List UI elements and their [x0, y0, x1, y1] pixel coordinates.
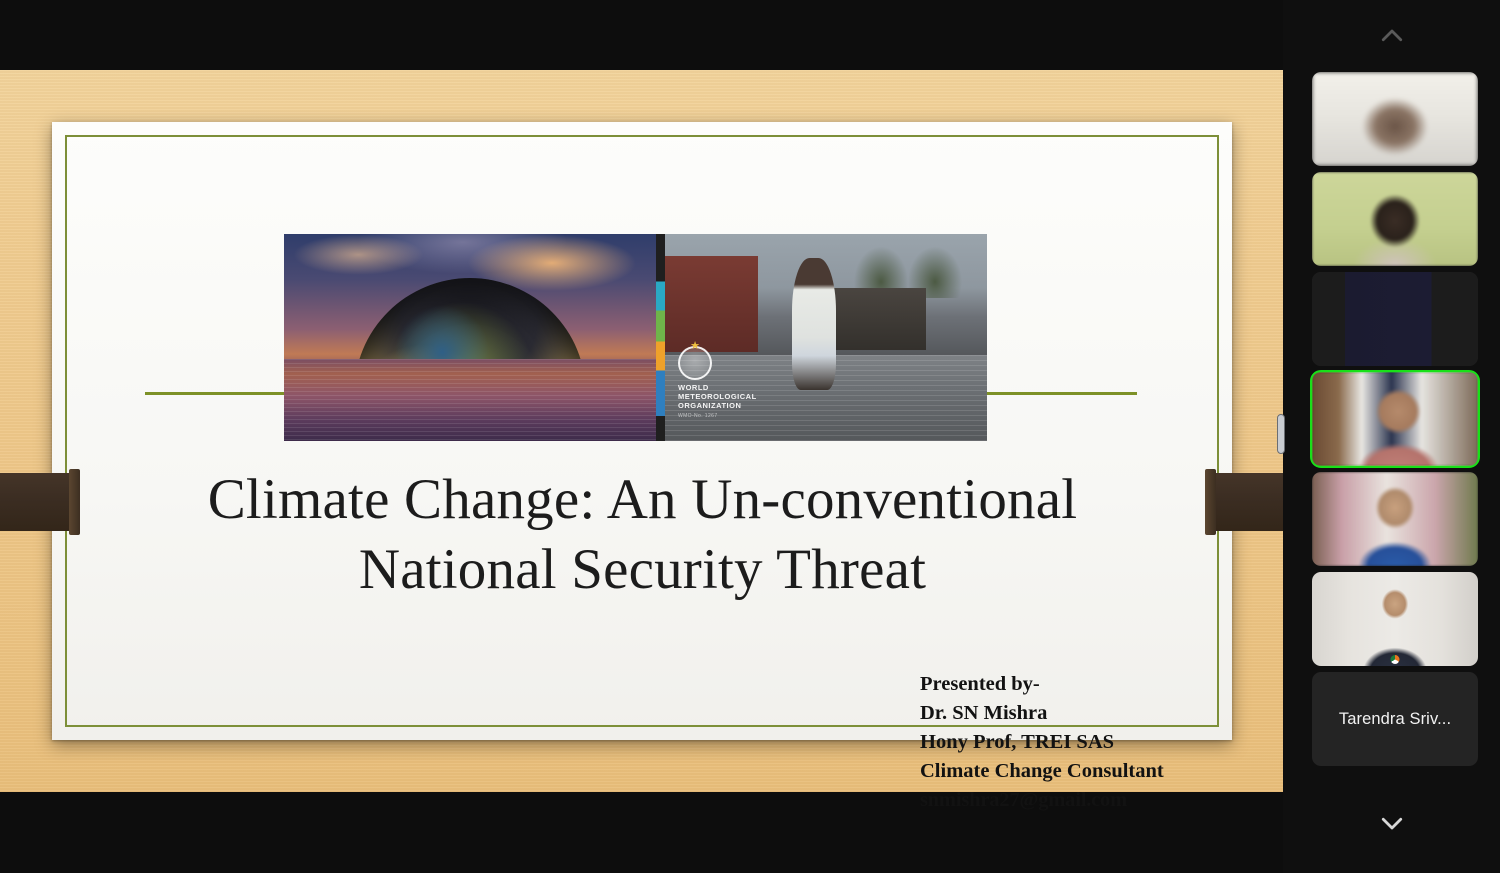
participant-tiles: Tarendra Sriv... [1283, 72, 1500, 784]
flood-wmo-image: WORLD METEOROLOGICAL ORGANIZATION WMO-No… [656, 234, 987, 441]
participant-tile[interactable] [1312, 272, 1478, 366]
participant-tile-camera-off[interactable]: Tarendra Sriv... [1312, 672, 1478, 766]
chevron-up-icon [1377, 21, 1407, 51]
slide-title-line-1: Climate Change: An Un-conventional [100, 465, 1185, 535]
globe-in-water-image [284, 234, 656, 441]
participant-tile[interactable] [1312, 72, 1478, 166]
presenter-role: Climate Change Consultant [920, 757, 1164, 786]
wmo-color-strip [656, 234, 665, 441]
wmo-caption: WMO-No. 1267 [678, 413, 808, 419]
wmo-emblem-icon [678, 346, 712, 380]
wmo-line2: METEOROLOGICAL [678, 392, 808, 401]
presenter-title: Hony Prof, TREI SAS [920, 728, 1164, 757]
slide-title: Climate Change: An Un-conventional Natio… [100, 465, 1185, 605]
participant-tile[interactable] [1312, 572, 1478, 666]
scroll-up-button[interactable] [1283, 5, 1500, 67]
presented-by-label: Presented by- [920, 670, 1164, 699]
presenter-email: snmishra27@gmail.com [920, 786, 1164, 815]
ribbon-cap-right [1205, 469, 1216, 535]
ribbon-cap-left [69, 469, 80, 535]
wmo-line1: WORLD [678, 383, 808, 392]
slide-image-row: WORLD METEOROLOGICAL ORGANIZATION WMO-No… [284, 234, 987, 441]
participant-tile[interactable] [1312, 172, 1478, 266]
chevron-down-icon [1377, 808, 1407, 838]
wmo-logo: WORLD METEOROLOGICAL ORGANIZATION WMO-No… [678, 346, 808, 419]
panel-resize-handle[interactable] [1277, 414, 1285, 454]
shared-screen-stage[interactable]: WORLD METEOROLOGICAL ORGANIZATION WMO-No… [0, 0, 1283, 873]
flood-red-building [662, 256, 758, 352]
decorative-ribbon-right [1205, 473, 1283, 531]
presenter-name: Dr. SN Mishra [920, 699, 1164, 728]
slide-title-line-2: National Security Threat [100, 535, 1185, 605]
presentation-slide[interactable]: WORLD METEOROLOGICAL ORGANIZATION WMO-No… [0, 70, 1283, 792]
decorative-ribbon-left [0, 473, 80, 531]
participant-tile[interactable] [1312, 472, 1478, 566]
presenter-block: Presented by- Dr. SN Mishra Hony Prof, T… [920, 670, 1164, 815]
wmo-line3: ORGANIZATION [678, 401, 808, 410]
scroll-down-button[interactable] [1283, 792, 1500, 854]
participant-filmstrip: Tarendra Sriv... [1283, 0, 1500, 873]
participant-video [1312, 372, 1478, 466]
participant-video [1312, 172, 1478, 266]
globe-water-surface [284, 359, 656, 441]
participant-video [1312, 572, 1478, 666]
participant-video [1312, 272, 1478, 366]
video-conference-window: WORLD METEOROLOGICAL ORGANIZATION WMO-No… [0, 0, 1500, 873]
participant-name-label: Tarendra Sriv... [1312, 672, 1478, 766]
participant-video [1312, 72, 1478, 166]
participant-video [1312, 472, 1478, 566]
participant-tile-active-speaker[interactable] [1312, 372, 1478, 466]
